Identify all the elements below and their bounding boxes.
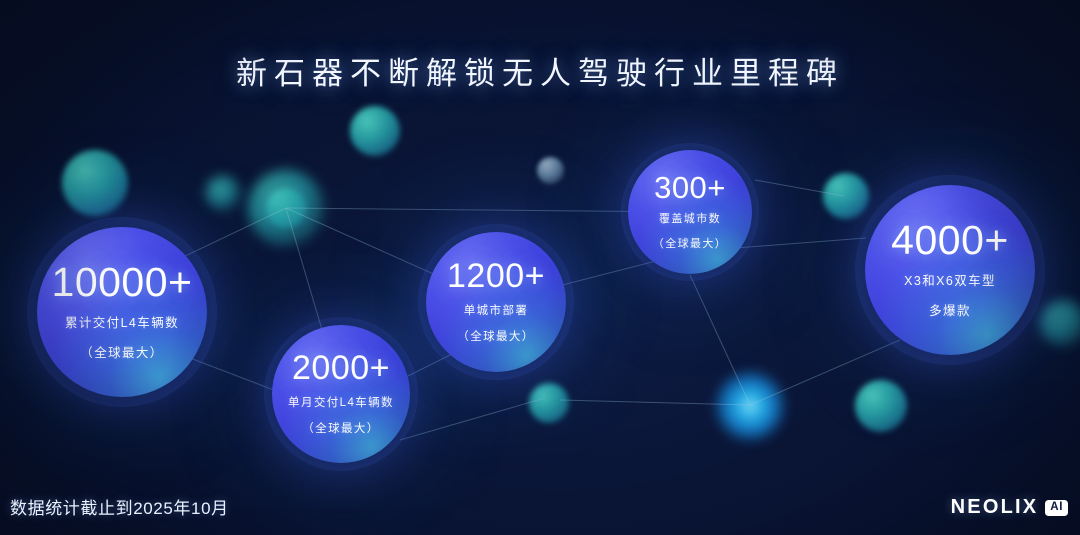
link-center-to-2000 (400, 398, 545, 440)
stat-sublabel: （全球最大） (80, 345, 163, 363)
stat-bubble-cities-covered[interactable]: 300+ 覆盖城市数 （全球最大） (628, 150, 752, 274)
brand-logo-wordmark: NEOLIX (951, 496, 1039, 519)
stat-bubble-single-city-deployment[interactable]: 1200+ 单城市部署 （全球最大） (426, 232, 566, 372)
stat-value: 2000+ (292, 351, 390, 385)
stat-label: X3和X6双车型 (904, 273, 996, 291)
stat-value: 4000+ (891, 220, 1009, 261)
link-cyan-node-to-center (560, 400, 750, 405)
page-title: 新石器不断解锁无人驾驶行业里程碑 (0, 48, 1080, 93)
stat-bubble-cumulative-l4[interactable]: 10000+ 累计交付L4车辆数 （全球最大） (37, 227, 207, 397)
link-300-to-cyan-node (690, 275, 750, 405)
stat-value: 300+ (654, 172, 726, 203)
stat-bubble-vehicle-models[interactable]: 4000+ X3和X6双车型 多爆款 (865, 185, 1035, 355)
stat-label: 累计交付L4车辆数 (65, 315, 179, 333)
stat-sublabel: （全球最大） (302, 421, 379, 437)
link-cyan-node-to-4000 (750, 340, 900, 405)
brand-logo: NEOLIX AI (951, 496, 1068, 519)
data-cutoff-note: 数据统计截止到2025年10月 (10, 494, 229, 519)
stat-sublabel: （全球最大） (653, 237, 727, 253)
link-sphere-to-300 (755, 180, 844, 196)
stat-value: 1200+ (447, 259, 545, 293)
brand-logo-ai-badge: AI (1045, 500, 1068, 516)
stat-sublabel: （全球最大） (457, 329, 534, 345)
stat-label: 单城市部署 (464, 303, 529, 319)
stat-label: 覆盖城市数 (659, 212, 721, 228)
stat-label: 单月交付L4车辆数 (288, 395, 394, 411)
infographic-canvas: 新石器不断解锁无人驾驶行业里程碑 10000+ 累计交付L4车辆数 （全球最大）… (0, 0, 1080, 535)
stat-bubble-monthly-l4[interactable]: 2000+ 单月交付L4车辆数 （全球最大） (272, 325, 410, 463)
stat-sublabel: 多爆款 (929, 303, 971, 321)
stat-value: 10000+ (52, 262, 193, 303)
